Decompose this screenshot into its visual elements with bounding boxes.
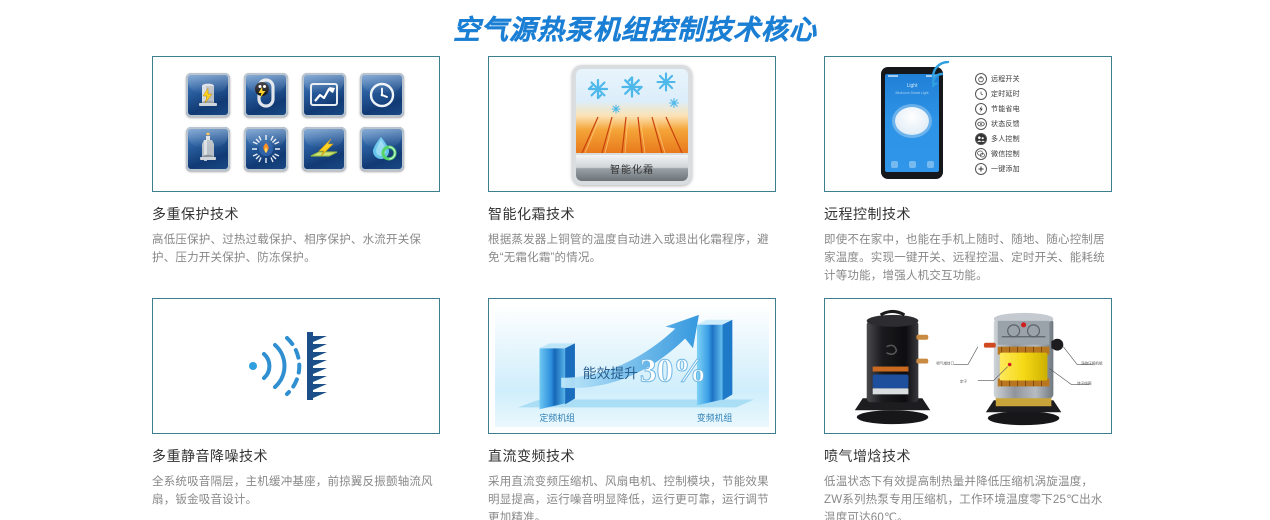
power-switch-icon: [975, 73, 987, 85]
pressure-tank-lightning-icon: [186, 73, 230, 117]
wechat-icon: [975, 148, 987, 160]
status-eye-icon: [975, 118, 987, 130]
chart-category-1: 变频机组: [697, 412, 733, 423]
multi-user-icon: [975, 133, 987, 145]
defrost-panel-label: 智能化霜: [576, 155, 688, 181]
card-image-box: 能效提升 30% 定频机组 变频机组: [488, 298, 776, 434]
protection-icon-grid: [186, 73, 406, 171]
plus-icon: [975, 163, 987, 175]
callout-label-rotor: 转子线圈: [1077, 380, 1092, 385]
feature-label: 多人控制: [991, 134, 1020, 144]
chart-annotation-label: 能效提升: [583, 366, 638, 381]
phone-nav-back[interactable]: [891, 161, 898, 168]
magnet-plug-lightning-icon: [244, 73, 288, 117]
lightning-plate-icon: [302, 127, 346, 171]
feature-timer: 定时延时: [975, 86, 1020, 101]
feature-card-dc-inverter: 能效提升 30% 定频机组 变频机组 直流变频技术 采用直流变频压缩机、风扇电机…: [488, 298, 776, 520]
phone-nav-bar: [885, 161, 939, 168]
card-image-box: 喷气增焓口 定子 涡旋压缩机组 转子线圈: [824, 298, 1112, 434]
remote-feature-list: 远程开关 定时延时 节能省电: [975, 71, 1020, 176]
page-title: 空气源热泵机组控制技术核心: [0, 8, 1270, 47]
feature-card-smart-defrost: 智能化霜 智能化霜技术 根据蒸发器上铜管的温度自动进入或退出化霜程序，避免“无霜…: [488, 56, 776, 294]
defrost-scene: [576, 69, 688, 153]
card-title: 直流变频技术: [488, 447, 776, 465]
card-title: 多重保护技术: [152, 205, 440, 223]
chart-category-0: 定频机组: [540, 412, 576, 423]
defrost-illustration: 智能化霜: [572, 65, 692, 185]
phone-power-knob[interactable]: [895, 107, 929, 135]
chart-annotation-value: 30%: [640, 353, 707, 390]
compressor-exterior: [855, 311, 930, 424]
feature-label: 一键添加: [991, 164, 1020, 174]
feature-label: 微信控制: [991, 149, 1020, 159]
feature-status-feedback: 状态反馈: [975, 116, 1020, 131]
feature-card-remote-control: Light Bedroom Smart Light: [824, 56, 1112, 294]
feature-card-noise-reduction: 多重静音降噪技术 全系统吸音隔层，主机缓冲基座，前掠翼反振颤轴流风扇，钣金吸音设…: [152, 298, 440, 520]
callout-label-stator: 定子: [960, 378, 968, 383]
card-description: 根据蒸发器上铜管的温度自动进入或退出化霜程序，避免“无霜化霜”的情况。: [488, 231, 774, 267]
snowflakes-icon: [576, 69, 688, 117]
card-title: 远程控制技术: [824, 205, 1112, 223]
water-drop-icon: [360, 127, 404, 171]
card-description: 采用直流变频压缩机、风扇电机、控制模块，节能效果明显提高，运行噪音明显降低，运行…: [488, 473, 774, 520]
feature-card-multi-protection: 多重保护技术 高低压保护、过热过载保护、相序保护、水流开关保护、压力开关保护、防…: [152, 56, 440, 294]
wifi-signal-icon: [927, 61, 959, 87]
page-root: 空气源热泵机组控制技术核心: [0, 0, 1270, 520]
feature-label: 状态反馈: [991, 119, 1020, 129]
phone-screen: Light Bedroom Smart Light: [885, 74, 939, 172]
feature-label: 定时延时: [991, 89, 1020, 99]
gas-cylinder-icon: [186, 127, 230, 171]
clock-icon: [975, 88, 987, 100]
feature-energy-saving: 节能省电: [975, 101, 1020, 116]
smartphone-illustration: Light Bedroom Smart Light: [881, 67, 943, 179]
card-title: 智能化霜技术: [488, 205, 776, 223]
efficiency-bar-chart: 能效提升 30% 定频机组 变频机组: [495, 305, 769, 427]
feature-multi-user: 多人控制: [975, 131, 1020, 146]
card-title: 多重静音降噪技术: [152, 447, 440, 465]
card-title: 喷气增焓技术: [824, 447, 1112, 465]
card-image-box: 智能化霜: [488, 56, 776, 192]
feature-label: 远程开关: [991, 74, 1020, 84]
phone-app-subtitle: Bedroom Smart Light: [885, 91, 939, 96]
compressor-cutaway: 喷气增焓口 定子 涡旋压缩机组 转子线圈: [936, 313, 1103, 425]
phone-nav-home[interactable]: [909, 161, 916, 168]
card-description: 即使不在家中，也能在手机上随时、随地、随心控制居家温度。实现一键开关、远程控温、…: [824, 231, 1110, 285]
card-image-box: Light Bedroom Smart Light: [824, 56, 1112, 192]
efficiency-chart-svg: 能效提升 30% 定频机组 变频机组: [495, 305, 769, 427]
feature-card-vapor-injection: 喷气增焓口 定子 涡旋压缩机组 转子线圈 喷气增焓技术 低温状态下有效提高制热量…: [824, 298, 1112, 520]
sunburst-flame-icon: [244, 127, 288, 171]
heating-coils-icon: [576, 113, 688, 153]
feature-one-key-add: 一键添加: [975, 161, 1020, 176]
card-image-box: [152, 56, 440, 192]
soundwave-absorber-icon: [231, 316, 361, 416]
callout-label-injection-port: 喷气增焓口: [936, 361, 954, 366]
trend-chart-icon: [302, 73, 346, 117]
feature-wechat-control: 微信控制: [975, 146, 1020, 161]
phone-nav-recents[interactable]: [927, 161, 934, 168]
clock-icon: [360, 73, 404, 117]
feature-remote-switch: 远程开关: [975, 71, 1020, 86]
compressor-cutaway-icon: 喷气增焓口 定子 涡旋压缩机组 转子线圈: [829, 303, 1107, 430]
card-description: 全系统吸音隔层，主机缓冲基座，前掠翼反振颤轴流风扇，钣金吸音设计。: [152, 473, 438, 509]
feature-grid: 多重保护技术 高低压保护、过热过载保护、相序保护、水流开关保护、压力开关保护、防…: [152, 56, 1112, 516]
card-description: 低温状态下有效提高制热量并降低压缩机涡旋温度，ZW系列热泵专用压缩机，工作环境温…: [824, 473, 1110, 520]
feature-label: 节能省电: [991, 104, 1020, 114]
card-description: 高低压保护、过热过载保护、相序保护、水流开关保护、压力开关保护、防冻保护。: [152, 231, 438, 267]
card-image-box: [152, 298, 440, 434]
callout-label-scroll-set: 涡旋压缩机组: [1081, 361, 1103, 366]
energy-bolt-icon: [975, 103, 987, 115]
